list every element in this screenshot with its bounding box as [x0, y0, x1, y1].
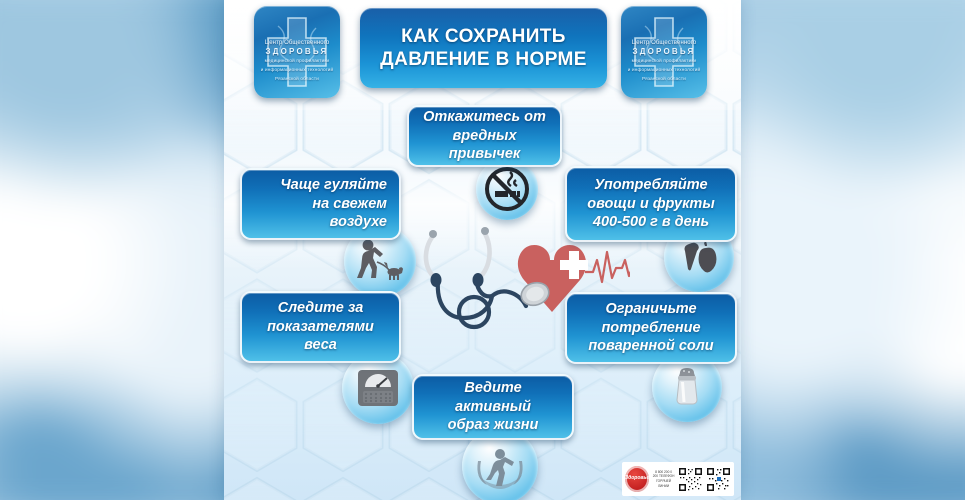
tip-text-active: Ведите активный образ жизни [414, 379, 572, 435]
footer-badges: Здоровье 8 800 200 0 200 ТЕЛЕФОН ГОРЯЧЕЙ… [622, 462, 734, 496]
footer-caption: 8 800 200 0 200 ТЕЛЕФОН ГОРЯЧЕЙ ЛИНИИ [652, 470, 675, 489]
logo-left: Центр Общественного ЗДОРОВЬЯ медицинской… [254, 6, 340, 98]
logo-line3: медицинской профилактики [627, 58, 701, 65]
logo-right-text: Центр Общественного ЗДОРОВЬЯ медицинской… [627, 40, 701, 83]
tip-card-weight[interactable]: Следите за показателями веса [240, 291, 401, 363]
poster-panel: Центр Общественного ЗДОРОВЬЯ медицинской… [224, 0, 741, 500]
logo-line5: Рязанской области [260, 76, 334, 83]
infographic-poster: Центр Общественного ЗДОРОВЬЯ медицинской… [0, 0, 965, 500]
tip-card-vegetables[interactable]: Употребляйте овощи и фрукты 400-500 г в … [565, 166, 737, 242]
logo-line3: медицинской профилактики [260, 58, 334, 65]
ecg-line-icon [585, 252, 630, 282]
tip-card-active[interactable]: Ведите активный образ жизни [412, 374, 574, 440]
logo-line5: Рязанской области [627, 76, 701, 83]
poster-title-banner: КАК СОХРАНИТЬ ДАВЛЕНИЕ В НОРМЕ [360, 8, 607, 88]
tip-card-salt[interactable]: Ограничьте потребление поваренной соли [565, 292, 737, 364]
logo-line4: и информационных технологий [627, 67, 701, 74]
logo-line2: ЗДОРОВЬЯ [627, 47, 701, 56]
no-smoking-icon [476, 158, 538, 220]
logo-line4: и информационных технологий [260, 67, 334, 74]
tip-text-habits: Откажитесь от вредных привычек [409, 108, 560, 164]
tip-text-walk: Чаще гуляйте на свежем воздухе [242, 176, 399, 232]
logo-line2: ЗДОРОВЬЯ [260, 47, 334, 56]
tip-card-walk[interactable]: Чаще гуляйте на свежем воздухе [240, 168, 401, 240]
tip-text-weight: Следите за показателями веса [242, 299, 399, 355]
logo-line1: Центр Общественного [627, 40, 701, 46]
logo-left-text: Центр Общественного ЗДОРОВЬЯ медицинской… [260, 40, 334, 83]
qr-code-1[interactable] [678, 467, 703, 492]
logo-right: Центр Общественного ЗДОРОВЬЯ медицинской… [621, 6, 707, 98]
qr-code-2[interactable] [706, 467, 731, 492]
tip-text-salt: Ограничьте потребление поваренной соли [567, 300, 735, 356]
tip-card-habits[interactable]: Откажитесь от вредных привычек [407, 105, 562, 167]
logo-line1: Центр Общественного [260, 40, 334, 46]
tip-text-vegetables: Употребляйте овощи и фрукты 400-500 г в … [567, 176, 735, 232]
red-stamp-logo: Здоровье [625, 466, 649, 492]
page-title: КАК СОХРАНИТЬ ДАВЛЕНИЕ В НОРМЕ [360, 25, 607, 71]
